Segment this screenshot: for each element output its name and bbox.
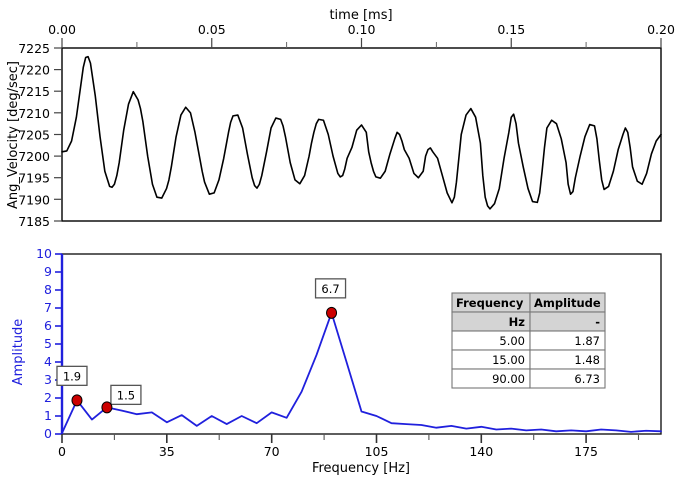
frequency-axis-title: Frequency [Hz] — [312, 461, 410, 476]
fft-xtick-label: 35 — [159, 444, 175, 459]
time-xtick-label: 0.00 — [48, 22, 76, 37]
peak-marker — [72, 395, 82, 406]
peaks-table-unit-amplitude: - — [595, 315, 600, 329]
time-series-line — [62, 57, 661, 209]
fft-ytick-label: 3 — [44, 372, 52, 387]
fft-ytick-label: 9 — [44, 264, 52, 279]
peaks-table: Frequency Amplitude Hz - 5.00 1.87 15.00… — [452, 293, 605, 388]
time-ytick-label: 7200 — [18, 149, 50, 164]
peak-callout-label: 1.5 — [117, 388, 135, 402]
peaks-table-amplitude: 1.48 — [574, 353, 600, 367]
time-plot-frame — [62, 48, 661, 221]
time-xtick-label: 0.15 — [497, 22, 525, 37]
fft-ytick-label: 1 — [44, 408, 52, 423]
peak-callout-label: 1.9 — [63, 369, 81, 383]
peaks-table-frequency: 90.00 — [492, 372, 525, 386]
peaks-table-amplitude: 1.87 — [574, 334, 600, 348]
fft-xtick-label: 175 — [574, 444, 598, 459]
peak-marker — [102, 402, 112, 413]
peaks-table-header-amplitude: Amplitude — [534, 296, 601, 310]
time-ytick-label: 7210 — [18, 106, 50, 121]
time-xtick-label: 0.05 — [198, 22, 226, 37]
peaks-table-amplitude: 6.73 — [574, 372, 600, 386]
time-ytick-label: 7195 — [18, 171, 50, 186]
figure-root: time [ms] Ang_Velocity [deg/sec] — [0, 0, 675, 482]
time-ytick-label: 7215 — [18, 84, 50, 99]
peaks-table-header-frequency: Frequency — [456, 296, 524, 310]
time-xtick-label: 0.10 — [348, 22, 376, 37]
peak-callout-label: 6.7 — [321, 282, 339, 296]
peak-marker — [327, 307, 337, 318]
time-ytick-label: 7225 — [18, 41, 50, 56]
fft-xtick-label: 140 — [469, 444, 493, 459]
time-yticks — [54, 48, 62, 221]
time-series-svg: time [ms] Ang_Velocity [deg/sec] — [0, 0, 675, 240]
fft-ytick-label: 7 — [44, 300, 52, 315]
fft-peak-annotations: 1.91.56.7 — [57, 279, 346, 413]
fft-spectrum-chart: Amplitude Frequency [Hz] 0 — [0, 240, 675, 482]
time-ytick-label: 7185 — [18, 214, 50, 229]
time-xtick-label: 0.20 — [647, 22, 675, 37]
time-ytick-labels: 7225 7220 7215 7210 7205 7200 7195 7190 … — [18, 41, 50, 229]
fft-xtick-label: 0 — [58, 444, 66, 459]
peaks-table-frequency: 15.00 — [492, 353, 525, 367]
peaks-table-unit-hz: Hz — [509, 315, 526, 329]
time-ytick-label: 7190 — [18, 192, 50, 207]
fft-ytick-label: 8 — [44, 282, 52, 297]
peaks-table-frequency: 5.00 — [499, 334, 525, 348]
fft-ytick-label: 5 — [44, 336, 52, 351]
time-ytick-label: 7205 — [18, 128, 50, 143]
time-series-chart: time [ms] Ang_Velocity [deg/sec] — [0, 0, 675, 240]
fft-spectrum-svg: Amplitude Frequency [Hz] 0 — [0, 240, 675, 482]
time-xtick-labels: 0.00 0.05 0.10 0.15 0.20 — [48, 22, 675, 37]
time-xticks-major — [62, 38, 661, 48]
fft-ytick-label: 10 — [36, 246, 52, 261]
fft-ytick-labels: 0 1 2 3 4 5 6 7 8 9 10 — [36, 246, 52, 441]
time-axis-title: time [ms] — [329, 8, 392, 23]
fft-xtick-labels: 0 35 70 105 140 175 — [58, 444, 598, 459]
fft-xtick-label: 70 — [264, 444, 280, 459]
time-ytick-label: 7220 — [18, 63, 50, 78]
fft-ytick-label: 4 — [44, 354, 52, 369]
fft-ytick-label: 2 — [44, 390, 52, 405]
fft-xtick-label: 105 — [365, 444, 389, 459]
amplitude-axis-title: Amplitude — [11, 319, 26, 386]
peaks-table-unit-cell — [530, 312, 605, 331]
fft-ytick-label: 0 — [44, 426, 52, 441]
fft-ytick-label: 6 — [44, 318, 52, 333]
